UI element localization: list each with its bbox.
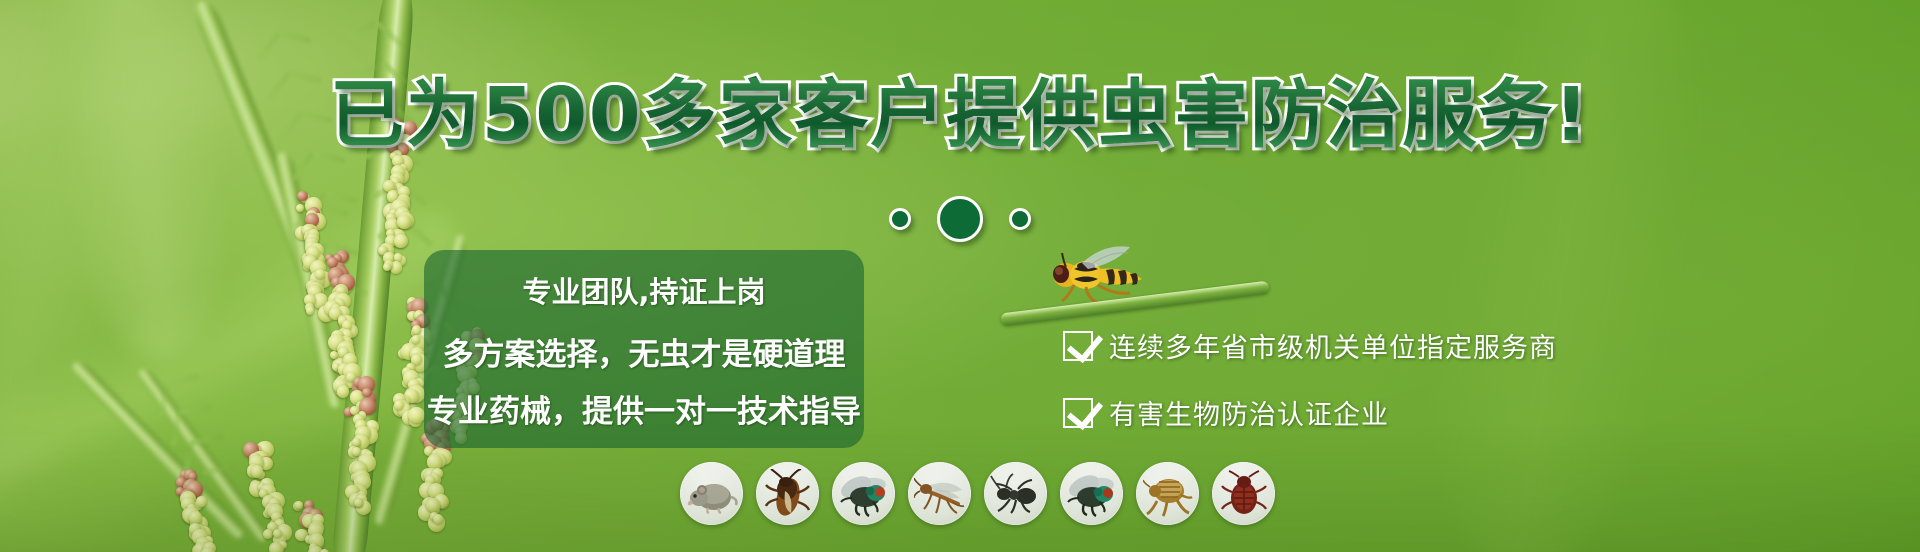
flea-icon [1136, 462, 1199, 525]
decorative-dot-row [0, 196, 1920, 242]
housefly-icon [832, 462, 895, 525]
pest-control-banner: 已为500多家客户提供虫害防治服务! 已为500多家客户提供虫害防治服务! 专业… [0, 0, 1920, 552]
cockroach-icon [756, 462, 819, 525]
checkbox-check-icon [1063, 331, 1093, 361]
feature-line-1: 专业团队,持证上岗 [522, 263, 765, 321]
feature-highlight-box: 专业团队,持证上岗 多方案选择，无虫才是硬道理 专业药械，提供一对一技术指导 [424, 250, 864, 448]
ant-icon [984, 462, 1047, 525]
checkbox-check-icon [1063, 398, 1093, 428]
credentials-list: 连续多年省市级机关单位指定服务商 有害生物防治认证企业 [1063, 326, 1557, 432]
credential-label-2: 有害生物防治认证企业 [1109, 393, 1389, 432]
banner-headline: 已为500多家客户提供虫害防治服务! [0, 78, 1920, 152]
feature-line-3: 专业药械，提供一对一技术指导 [427, 382, 861, 435]
credential-label-1: 连续多年省市级机关单位指定服务商 [1109, 326, 1557, 365]
pest-icon-row [680, 462, 1275, 525]
blowfly-icon [1060, 462, 1123, 525]
bedbug-icon [1212, 462, 1275, 525]
credential-item-2: 有害生物防治认证企业 [1063, 393, 1557, 432]
hoverfly-insect [1040, 245, 1170, 315]
dot-small-right [1009, 208, 1031, 230]
credential-item-1: 连续多年省市级机关单位指定服务商 [1063, 326, 1557, 365]
mosquito-icon [908, 462, 971, 525]
feature-line-2: 多方案选择，无虫才是硬道理 [443, 325, 846, 378]
dot-small-left [889, 208, 911, 230]
mouse-icon [680, 462, 743, 525]
dot-large-center [937, 196, 983, 242]
